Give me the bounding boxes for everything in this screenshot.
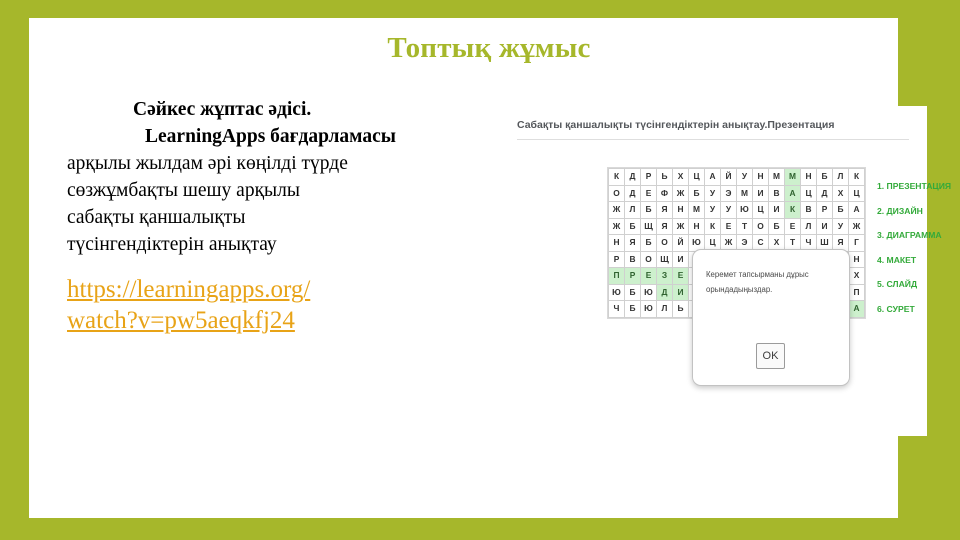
grid-cell-r4c8[interactable]: Е bbox=[721, 218, 737, 235]
word-list-item-4[interactable]: 4. МАКЕТ bbox=[877, 248, 960, 273]
grid-cell-r1c1[interactable]: К bbox=[609, 169, 625, 186]
grid-cell-r1c15[interactable]: Л bbox=[833, 169, 849, 186]
grid-cell-r3c8[interactable]: У bbox=[721, 202, 737, 219]
grid-cell-r7c5[interactable]: Е bbox=[673, 268, 689, 285]
grid-cell-r1c4[interactable]: Ь bbox=[657, 169, 673, 186]
link-block[interactable]: https://learningapps.org/ watch?v=pw5aeq… bbox=[67, 274, 467, 336]
grid-cell-r4c12[interactable]: Е bbox=[785, 218, 801, 235]
page-title: Топтық жұмыс bbox=[279, 31, 699, 65]
grid-cell-r9c5[interactable]: Ь bbox=[673, 301, 689, 318]
grid-cell-r2c14[interactable]: Д bbox=[817, 185, 833, 202]
grid-cell-r2c16[interactable]: Ц bbox=[849, 185, 865, 202]
grid-cell-r2c12[interactable]: А bbox=[785, 185, 801, 202]
grid-cell-r3c14[interactable]: Р bbox=[817, 202, 833, 219]
grid-cell-r3c10[interactable]: Ц bbox=[753, 202, 769, 219]
grid-cell-r6c5[interactable]: И bbox=[673, 251, 689, 268]
grid-cell-r4c6[interactable]: Н bbox=[689, 218, 705, 235]
grid-cell-r6c1[interactable]: Р bbox=[609, 251, 625, 268]
dialog-ok-button[interactable]: OK bbox=[756, 343, 785, 369]
grid-cell-r2c9[interactable]: М bbox=[737, 185, 753, 202]
grid-cell-r1c9[interactable]: У bbox=[737, 169, 753, 186]
grid-cell-r3c7[interactable]: У bbox=[705, 202, 721, 219]
word-list-item-5[interactable]: 5. СЛАЙД bbox=[877, 272, 960, 297]
grid-cell-r3c12[interactable]: К bbox=[785, 202, 801, 219]
grid-cell-r5c5[interactable]: Й bbox=[673, 235, 689, 252]
grid-cell-r4c5[interactable]: Ж bbox=[673, 218, 689, 235]
grid-cell-r1c3[interactable]: Р bbox=[641, 169, 657, 186]
grid-cell-r5c4[interactable]: О bbox=[657, 235, 673, 252]
body-line-6: түсінгендіктерін анықтау bbox=[67, 231, 487, 258]
grid-cell-r4c14[interactable]: И bbox=[817, 218, 833, 235]
grid-cell-r2c15[interactable]: Х bbox=[833, 185, 849, 202]
grid-cell-r6c2[interactable]: В bbox=[625, 251, 641, 268]
grid-cell-r1c16[interactable]: К bbox=[849, 169, 865, 186]
grid-cell-r2c6[interactable]: Б bbox=[689, 185, 705, 202]
body-line-4: сөзжұмбақты шешу арқылы bbox=[67, 177, 487, 204]
grid-cell-r3c11[interactable]: И bbox=[769, 202, 785, 219]
learningapps-link-line-2[interactable]: watch?v=pw5aeqkfj24 bbox=[67, 305, 467, 336]
app-header-divider bbox=[517, 139, 909, 140]
embedded-app-screenshot: Сабақты қаншалықты түсінгендіктерін анық… bbox=[497, 106, 927, 436]
grid-cell-r8c1[interactable]: Ю bbox=[609, 284, 625, 301]
grid-cell-r5c3[interactable]: Б bbox=[641, 235, 657, 252]
left-text-block: Сәйкес жұптас әдісі.LearningApps бағдарл… bbox=[67, 96, 487, 258]
grid-row: ОДЕФЖБУЭМИВАЦДХЦ bbox=[609, 185, 865, 202]
slide-root: Топтық жұмыс Сәйкес жұптас әдісі.Learnin… bbox=[0, 0, 960, 540]
body-line-5: сабақты қаншалықты bbox=[67, 204, 487, 231]
grid-cell-r4c11[interactable]: Б bbox=[769, 218, 785, 235]
grid-cell-r7c16[interactable]: Х bbox=[849, 268, 865, 285]
app-header-title: Сабақты қаншалықты түсінгендіктерін анық… bbox=[517, 119, 907, 131]
grid-cell-r4c15[interactable]: У bbox=[833, 218, 849, 235]
grid-cell-r2c1[interactable]: О bbox=[609, 185, 625, 202]
grid-cell-r1c8[interactable]: Й bbox=[721, 169, 737, 186]
grid-cell-r1c10[interactable]: Н bbox=[753, 169, 769, 186]
slide-canvas: Топтық жұмыс Сәйкес жұптас әдісі.Learnin… bbox=[29, 18, 898, 518]
grid-cell-r2c13[interactable]: Ц bbox=[801, 185, 817, 202]
grid-cell-r3c13[interactable]: В bbox=[801, 202, 817, 219]
grid-cell-r3c16[interactable]: А bbox=[849, 202, 865, 219]
grid-cell-r7c2[interactable]: Р bbox=[625, 268, 641, 285]
grid-cell-r3c4[interactable]: Я bbox=[657, 202, 673, 219]
grid-cell-r4c9[interactable]: Т bbox=[737, 218, 753, 235]
grid-cell-r4c7[interactable]: К bbox=[705, 218, 721, 235]
word-list-item-6[interactable]: 6. СУРЕТ bbox=[877, 297, 960, 322]
grid-cell-r8c4[interactable]: Д bbox=[657, 284, 673, 301]
grid-cell-r4c2[interactable]: Б bbox=[625, 218, 641, 235]
word-list-item-3[interactable]: 3. ДИАГРАММА bbox=[877, 223, 960, 248]
grid-cell-r3c9[interactable]: Ю bbox=[737, 202, 753, 219]
body-line-2: LearningApps бағдарламасы bbox=[67, 123, 487, 150]
dialog-message: Керемет тапсырманы дұрыс орындадыңыздар. bbox=[706, 267, 836, 297]
grid-cell-r3c15[interactable]: Б bbox=[833, 202, 849, 219]
grid-cell-r2c10[interactable]: И bbox=[753, 185, 769, 202]
grid-cell-r6c3[interactable]: О bbox=[641, 251, 657, 268]
word-list-item-2[interactable]: 2. ДИЗАЙН bbox=[877, 199, 960, 224]
grid-cell-r1c2[interactable]: Д bbox=[625, 169, 641, 186]
grid-cell-r1c7[interactable]: А bbox=[705, 169, 721, 186]
grid-cell-r6c16[interactable]: Н bbox=[849, 251, 865, 268]
grid-cell-r2c4[interactable]: Ф bbox=[657, 185, 673, 202]
grid-cell-r1c5[interactable]: Х bbox=[673, 169, 689, 186]
grid-cell-r4c1[interactable]: Ж bbox=[609, 218, 625, 235]
word-list: 1. ПРЕЗЕНТАЦИЯ2. ДИЗАЙН3. ДИАГРАММА4. МА… bbox=[877, 174, 960, 321]
body-line-1: Сәйкес жұптас әдісі. bbox=[67, 96, 487, 123]
grid-cell-r5c2[interactable]: Я bbox=[625, 235, 641, 252]
body-line-3: арқылы жылдам әрі көңілді түрде bbox=[67, 150, 487, 177]
grid-cell-r1c12[interactable]: М bbox=[785, 169, 801, 186]
grid-cell-r4c3[interactable]: Щ bbox=[641, 218, 657, 235]
grid-cell-r2c8[interactable]: Э bbox=[721, 185, 737, 202]
grid-cell-r4c16[interactable]: Ж bbox=[849, 218, 865, 235]
grid-cell-r3c2[interactable]: Л bbox=[625, 202, 641, 219]
grid-cell-r7c4[interactable]: З bbox=[657, 268, 673, 285]
grid-cell-r2c5[interactable]: Ж bbox=[673, 185, 689, 202]
grid-cell-r9c4[interactable]: Л bbox=[657, 301, 673, 318]
success-dialog: Керемет тапсырманы дұрыс орындадыңыздар.… bbox=[692, 249, 850, 386]
grid-cell-r1c13[interactable]: Н bbox=[801, 169, 817, 186]
grid-cell-r6c4[interactable]: Щ bbox=[657, 251, 673, 268]
grid-cell-r3c5[interactable]: Н bbox=[673, 202, 689, 219]
grid-cell-r2c3[interactable]: Е bbox=[641, 185, 657, 202]
grid-cell-r8c5[interactable]: И bbox=[673, 284, 689, 301]
grid-cell-r3c6[interactable]: М bbox=[689, 202, 705, 219]
grid-cell-r4c13[interactable]: Л bbox=[801, 218, 817, 235]
grid-cell-r5c16[interactable]: Г bbox=[849, 235, 865, 252]
grid-cell-r7c3[interactable]: Е bbox=[641, 268, 657, 285]
grid-cell-r1c6[interactable]: Ц bbox=[689, 169, 705, 186]
grid-cell-r8c2[interactable]: Б bbox=[625, 284, 641, 301]
grid-cell-r9c1[interactable]: Ч bbox=[609, 301, 625, 318]
grid-row: ЖБЩЯЖНКЕТОБЕЛИУЖ bbox=[609, 218, 865, 235]
grid-row: КДРЬХЦАЙУНММНБЛК bbox=[609, 169, 865, 186]
grid-cell-r3c1[interactable]: Ж bbox=[609, 202, 625, 219]
grid-cell-r2c2[interactable]: Д bbox=[625, 185, 641, 202]
grid-cell-r2c7[interactable]: У bbox=[705, 185, 721, 202]
grid-cell-r8c16[interactable]: П bbox=[849, 284, 865, 301]
learningapps-link-line-1[interactable]: https://learningapps.org/ bbox=[67, 274, 467, 305]
grid-cell-r4c4[interactable]: Я bbox=[657, 218, 673, 235]
grid-cell-r5c1[interactable]: Н bbox=[609, 235, 625, 252]
grid-cell-r2c11[interactable]: В bbox=[769, 185, 785, 202]
grid-cell-r9c2[interactable]: Б bbox=[625, 301, 641, 318]
grid-cell-r1c11[interactable]: М bbox=[769, 169, 785, 186]
grid-cell-r3c3[interactable]: Б bbox=[641, 202, 657, 219]
grid-cell-r7c1[interactable]: П bbox=[609, 268, 625, 285]
word-list-item-1[interactable]: 1. ПРЕЗЕНТАЦИЯ bbox=[877, 174, 960, 199]
grid-row: ЖЛБЯНМУУЮЦИКВРБА bbox=[609, 202, 865, 219]
grid-cell-r8c3[interactable]: Ю bbox=[641, 284, 657, 301]
grid-cell-r9c16[interactable]: А bbox=[849, 301, 865, 318]
grid-cell-r1c14[interactable]: Б bbox=[817, 169, 833, 186]
grid-cell-r9c3[interactable]: Ю bbox=[641, 301, 657, 318]
grid-cell-r4c10[interactable]: О bbox=[753, 218, 769, 235]
